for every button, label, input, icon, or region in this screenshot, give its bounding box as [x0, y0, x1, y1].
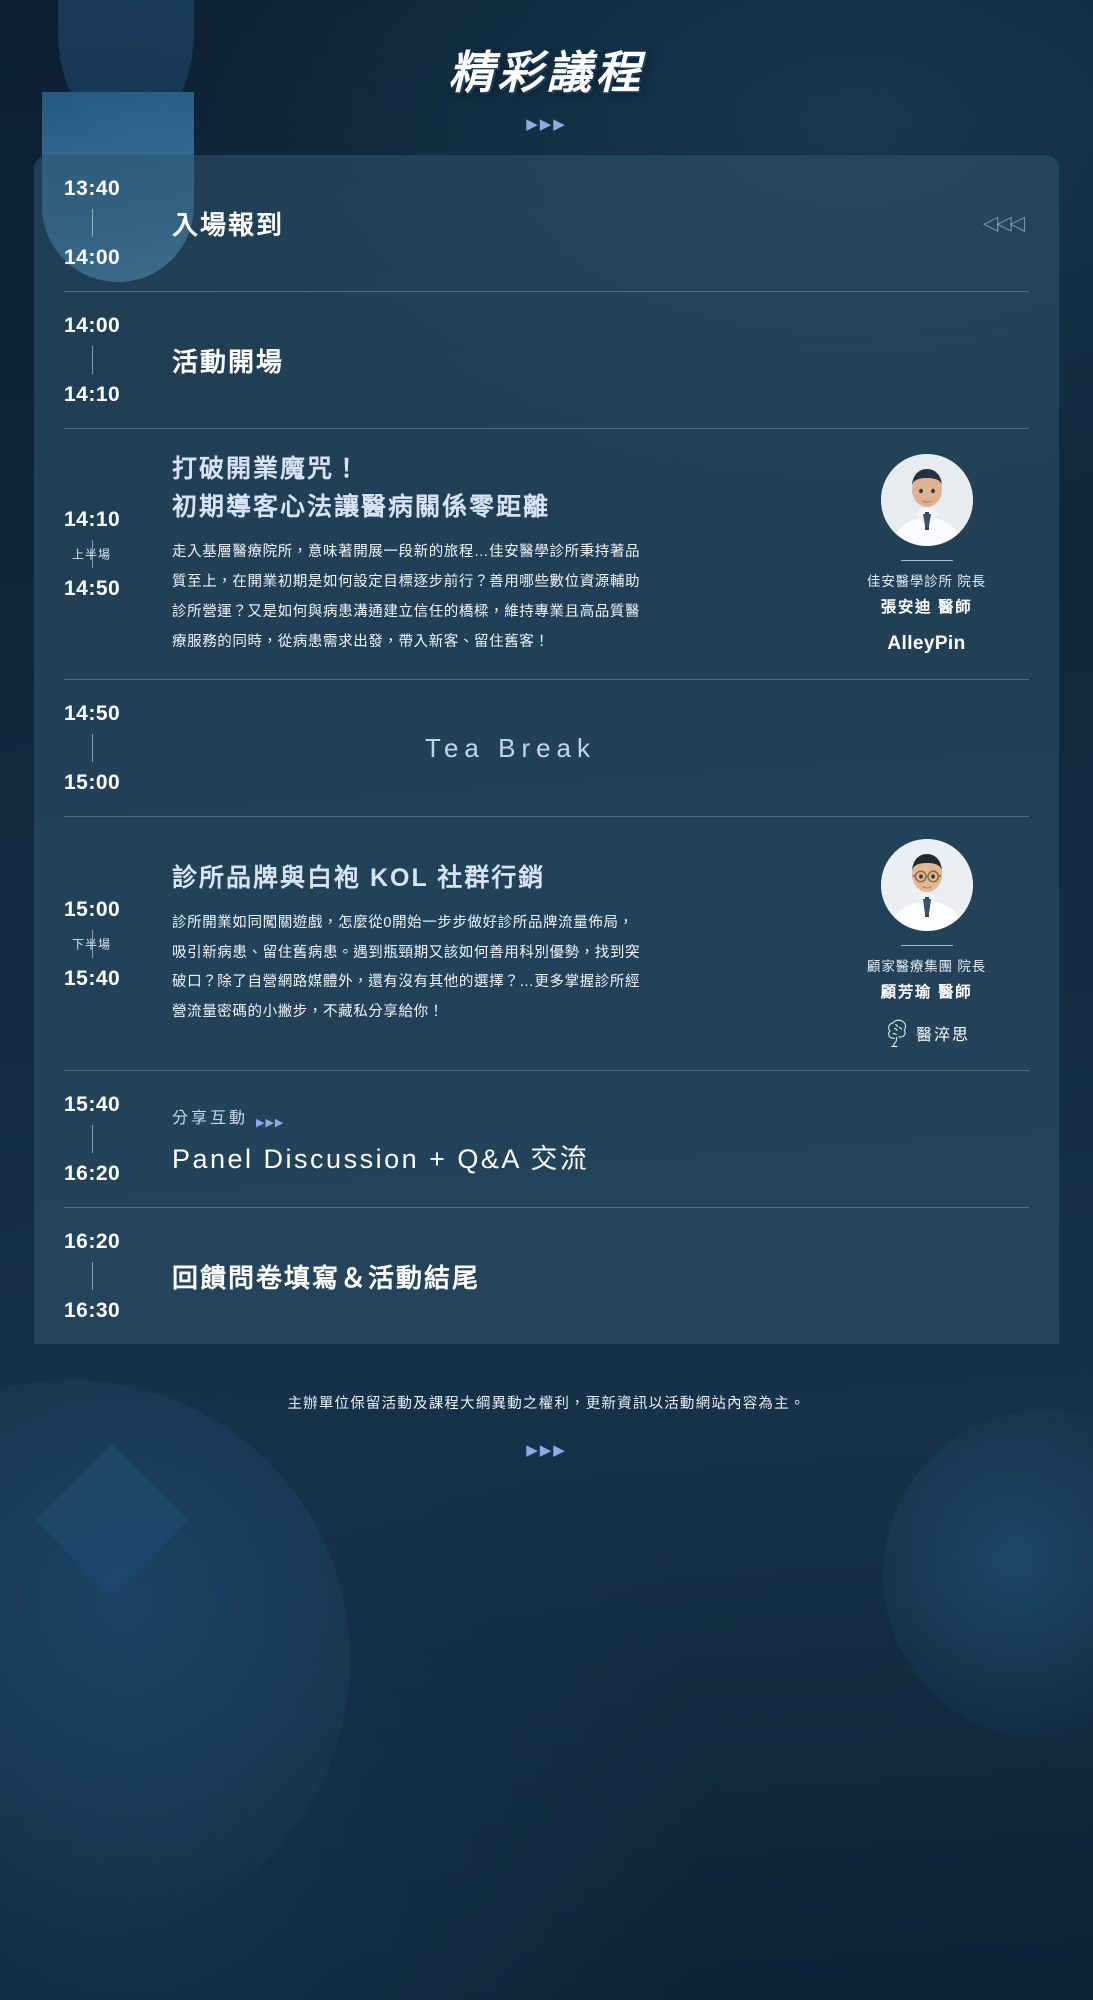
header-arrows-icon: ▶▶▶ — [0, 117, 1093, 132]
speaker-divider — [901, 560, 953, 561]
end-time: 14:50 — [64, 577, 120, 600]
speaker-brand-label: AlleyPin — [887, 633, 965, 655]
row-title: 入場報到 — [172, 205, 1029, 242]
start-time: 15:40 — [64, 1093, 120, 1116]
content-column: 入場報到 — [172, 155, 1029, 291]
time-separator — [92, 209, 93, 237]
content-column: 分享互動 ▶▶▶ Panel Discussion + Q&A 交流 — [172, 1071, 1029, 1207]
time-column: 14:50 15:00 — [64, 680, 172, 816]
content-column: Tea Break — [172, 680, 1029, 816]
end-time: 14:10 — [64, 383, 120, 406]
footer-arrows-icon: ▶▶▶ — [0, 1443, 1093, 1458]
row-title: 回饋問卷填寫＆活動結尾 — [172, 1258, 1029, 1295]
speaker-organization: 顧家醫療集團 院長 — [867, 956, 986, 978]
time-separator — [92, 1125, 93, 1153]
time-separator — [92, 346, 93, 374]
end-time: 16:30 — [64, 1299, 120, 1322]
time-column: 13:40 14:00 — [64, 155, 172, 291]
page-header: 精彩議程 ▶▶▶ — [0, 0, 1093, 132]
content-column: 回饋問卷填寫＆活動結尾 — [172, 1208, 1029, 1344]
speaker-name: 張安迪 醫師 — [881, 595, 972, 617]
speaker-block: 佳安醫學診所 院長 張安迪 醫師 AlleyPin — [814, 429, 1029, 679]
start-time: 14:10 — [64, 508, 120, 531]
page-footer: 主辦單位保留活動及課程大綱異動之權利，更新資訊以活動網站內容為主。 ▶▶▶ — [0, 1392, 1093, 1458]
session-title-line-1: 診所品牌與白袍 KOL 社群行銷 — [172, 860, 814, 898]
avatar — [881, 454, 973, 546]
agenda-row-break[interactable]: 14:50 15:00 Tea Break — [64, 679, 1029, 816]
start-time: 16:20 — [64, 1230, 120, 1253]
brain-thinker-icon — [883, 1018, 909, 1048]
session-title: 診所品牌與白袍 KOL 社群行銷 — [172, 860, 814, 898]
panel-kicker-label: 分享互動 — [172, 1104, 248, 1128]
agenda-row[interactable]: 14:00 14:10 活動開場 — [64, 291, 1029, 428]
content-column: 打破開業魔咒！ 初期導客心法讓醫病關係零距離 走入基層醫療院所，意味著開展一段新… — [172, 429, 814, 679]
start-time: 15:00 — [64, 898, 120, 921]
decorative-blob-bottom-right — [883, 1410, 1093, 1740]
session-title-line-1: 打破開業魔咒！ — [172, 451, 814, 489]
agenda-card: 13:40 14:00 入場報到 ◁◁◁ 14:00 14:10 活動開場 上半… — [34, 155, 1059, 1344]
footer-disclaimer: 主辦單位保留活動及課程大綱異動之權利，更新資訊以活動網站內容為主。 — [0, 1392, 1093, 1413]
time-column: 14:00 14:10 — [64, 292, 172, 428]
avatar — [881, 839, 973, 931]
content-column: 診所品牌與白袍 KOL 社群行銷 診所開業如同闖關遊戲，怎麼從0開始一步步做好診… — [172, 817, 814, 1070]
panel-title: Panel Discussion + Q&A 交流 — [172, 1137, 1029, 1176]
time-column: 上半場 14:10 14:50 — [64, 429, 172, 679]
start-time: 13:40 — [64, 177, 120, 200]
page-title: 精彩議程 — [0, 36, 1093, 101]
session-title: 打破開業魔咒！ 初期導客心法讓醫病關係零距離 — [172, 451, 814, 526]
session-tag: 下半場 — [72, 935, 111, 952]
session-tag: 上半場 — [72, 546, 111, 563]
speaker-divider — [901, 945, 953, 946]
start-time: 14:00 — [64, 314, 120, 337]
end-time: 14:00 — [64, 246, 120, 269]
speaker-brand: AlleyPin — [887, 633, 965, 655]
panel-kicker: 分享互動 ▶▶▶ — [172, 1102, 1029, 1129]
decorative-blob-bottom-left — [0, 1380, 350, 1940]
end-time: 16:20 — [64, 1162, 120, 1185]
speaker-brand: 醫淬思 — [883, 1018, 970, 1048]
agenda-row-session[interactable]: 上半場 14:10 14:50 打破開業魔咒！ 初期導客心法讓醫病關係零距離 走… — [64, 428, 1029, 679]
row-title: 活動開場 — [172, 342, 1029, 379]
agenda-row-session[interactable]: 下半場 15:00 15:40 診所品牌與白袍 KOL 社群行銷 診所開業如同闖… — [64, 816, 1029, 1070]
speaker-name: 顧芳瑜 醫師 — [881, 980, 972, 1002]
content-column: 活動開場 — [172, 292, 1029, 428]
time-column: 16:20 16:30 — [64, 1208, 172, 1344]
end-time: 15:00 — [64, 771, 120, 794]
agenda-row[interactable]: 13:40 14:00 入場報到 ◁◁◁ — [64, 155, 1029, 291]
speaker-brand-label: 醫淬思 — [916, 1021, 970, 1045]
agenda-row-panel[interactable]: 15:40 16:20 分享互動 ▶▶▶ Panel Discussion + … — [64, 1070, 1029, 1207]
time-separator — [92, 734, 93, 762]
end-time: 15:40 — [64, 967, 120, 990]
session-description: 走入基層醫療院所，意味著開展一段新的旅程…佳安醫學診所秉持著品質至上，在開業初期… — [172, 538, 642, 657]
agenda-row[interactable]: 16:20 16:30 回饋問卷填寫＆活動結尾 — [64, 1207, 1029, 1344]
session-title-line-2: 初期導客心法讓醫病關係零距離 — [172, 489, 814, 527]
break-title: Tea Break — [172, 733, 1029, 764]
time-column: 15:40 16:20 — [64, 1071, 172, 1207]
panel-arrows-icon: ▶▶▶ — [256, 1118, 284, 1129]
time-separator — [92, 1262, 93, 1290]
rewind-icon: ◁◁◁ — [983, 211, 1023, 236]
session-description: 診所開業如同闖關遊戲，怎麼從0開始一步步做好診所品牌流量佈局，吸引新病患、留住舊… — [172, 909, 642, 1028]
start-time: 14:50 — [64, 702, 120, 725]
speaker-organization: 佳安醫學診所 院長 — [867, 571, 986, 593]
speaker-block: 顧家醫療集團 院長 顧芳瑜 醫師 醫淬思 — [814, 817, 1029, 1070]
time-column: 下半場 15:00 15:40 — [64, 817, 172, 1070]
